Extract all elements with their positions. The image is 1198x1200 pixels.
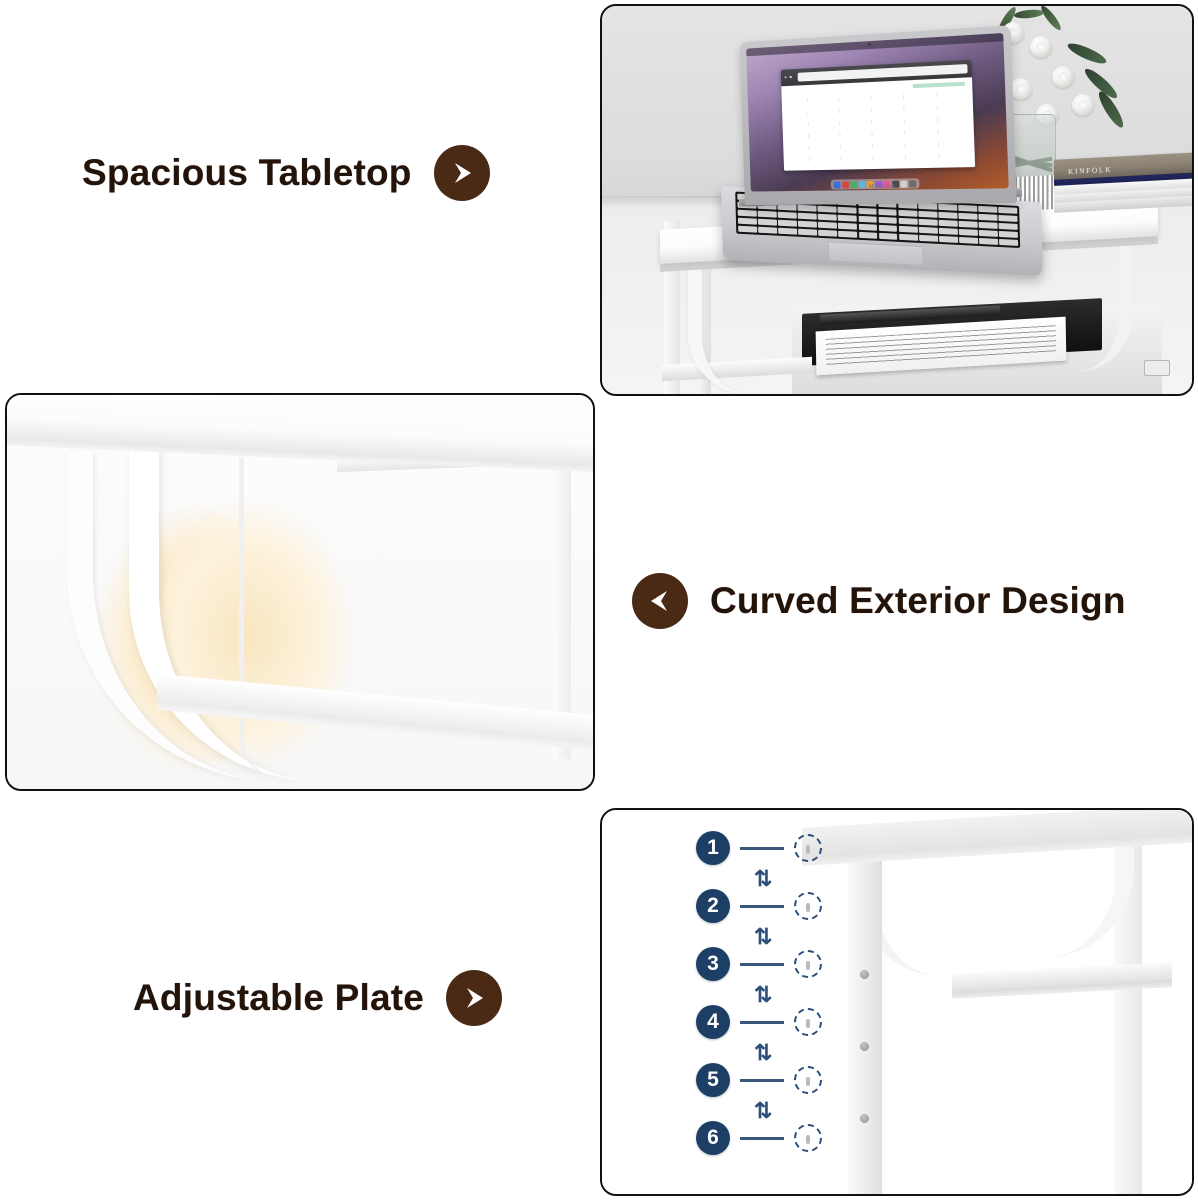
screw-hole-marker (794, 1008, 822, 1036)
adjustment-levels-list: 1⇅2⇅3⇅4⇅5⇅6 (602, 810, 1192, 1194)
caption-curved-exterior-design: Curved Exterior Design (632, 573, 1126, 629)
level-number-badge: 3 (696, 947, 730, 981)
dock-icon (834, 181, 841, 188)
caption-label: Curved Exterior Design (710, 580, 1126, 622)
level-connector-line (740, 847, 784, 850)
level-connector-line (740, 963, 784, 966)
level-number-badge: 4 (696, 1005, 730, 1039)
chevron-right-icon[interactable] (434, 145, 490, 201)
dock-icon (858, 181, 865, 188)
browser-dot (784, 76, 786, 79)
laptop-trackpad (827, 241, 923, 266)
level-number-badge: 1 (696, 831, 730, 865)
screw-hole-marker (794, 950, 822, 978)
adjustment-level-row: 5 (696, 1062, 822, 1098)
screw-pin (806, 1077, 810, 1086)
level-number-badge: 6 (696, 1121, 730, 1155)
panel-adjustable-plate-diagram: 1⇅2⇅3⇅4⇅5⇅6 (600, 808, 1194, 1196)
screw-hole-marker (794, 1066, 822, 1094)
screw-pin (806, 961, 810, 970)
adjustment-level-row: 4 (696, 1004, 822, 1040)
curved-leg-edge (239, 457, 279, 777)
content-column (807, 98, 810, 166)
browser-highlight-button (913, 81, 965, 87)
macos-menubar (746, 33, 1003, 56)
level-connector-line (740, 1079, 784, 1082)
white-rose (1072, 94, 1094, 116)
panel-curved-exterior-photo (5, 393, 595, 791)
chevron-left-icon[interactable] (632, 573, 688, 629)
dock-icon (842, 181, 849, 188)
caption-label: Spacious Tabletop (82, 152, 412, 194)
dock-icon (900, 180, 907, 187)
book-kinfolk-title: KINFOLK (1068, 165, 1112, 176)
level-connector-line (740, 1137, 784, 1140)
screw-pin (806, 845, 810, 854)
level-connector-line (740, 1021, 784, 1024)
content-column (936, 93, 940, 164)
adjustment-level-row: 1 (696, 830, 822, 866)
foliage-leaf (1014, 8, 1045, 19)
foliage-leaf (1066, 40, 1109, 67)
level-number-badge: 2 (696, 889, 730, 923)
browser-content (781, 77, 975, 171)
chevron-right-icon[interactable] (446, 970, 502, 1026)
white-rose (1052, 66, 1074, 88)
screw-pin (806, 1135, 810, 1144)
screw-hole-marker (794, 1124, 822, 1152)
laptop-lid (740, 25, 1017, 205)
laptop-screen (746, 33, 1009, 192)
up-down-arrow-icon: ⇅ (754, 868, 772, 890)
level-number-badge: 5 (696, 1063, 730, 1097)
panel-spacious-tabletop-photo: KINFOLK (600, 4, 1194, 396)
browser-window (780, 60, 974, 171)
infographic-page: KINFOLK (0, 0, 1198, 1200)
up-down-arrow-icon: ⇅ (754, 1042, 772, 1064)
screw-hole-marker (794, 892, 822, 920)
printer-control-button (1144, 360, 1170, 376)
adjustment-level-row: 6 (696, 1120, 822, 1156)
book-stack: KINFOLK (1054, 156, 1194, 218)
screw-pin (806, 903, 810, 912)
content-column (870, 96, 873, 166)
foliage-leaf (1039, 4, 1064, 32)
screw-hole-marker (794, 834, 822, 862)
up-down-arrow-icon: ⇅ (754, 926, 772, 948)
content-column (903, 94, 906, 164)
caption-spacious-tabletop: Spacious Tabletop (82, 145, 490, 201)
level-connector-line (740, 905, 784, 908)
laptop-brand-label: MacBook (868, 184, 895, 190)
dock-icon (850, 181, 857, 188)
up-down-arrow-icon: ⇅ (754, 1100, 772, 1122)
dock-icon (909, 180, 916, 187)
caption-adjustable-plate: Adjustable Plate (133, 970, 502, 1026)
adjustment-level-row: 2 (696, 888, 822, 924)
browser-dot (789, 76, 791, 79)
screw-pin (806, 1019, 810, 1028)
up-down-arrow-icon: ⇅ (754, 984, 772, 1006)
adjustment-level-row: 3 (696, 946, 822, 982)
macbook-laptop: MacBook (722, 34, 1042, 264)
caption-label: Adjustable Plate (133, 977, 424, 1019)
content-column (838, 97, 841, 166)
